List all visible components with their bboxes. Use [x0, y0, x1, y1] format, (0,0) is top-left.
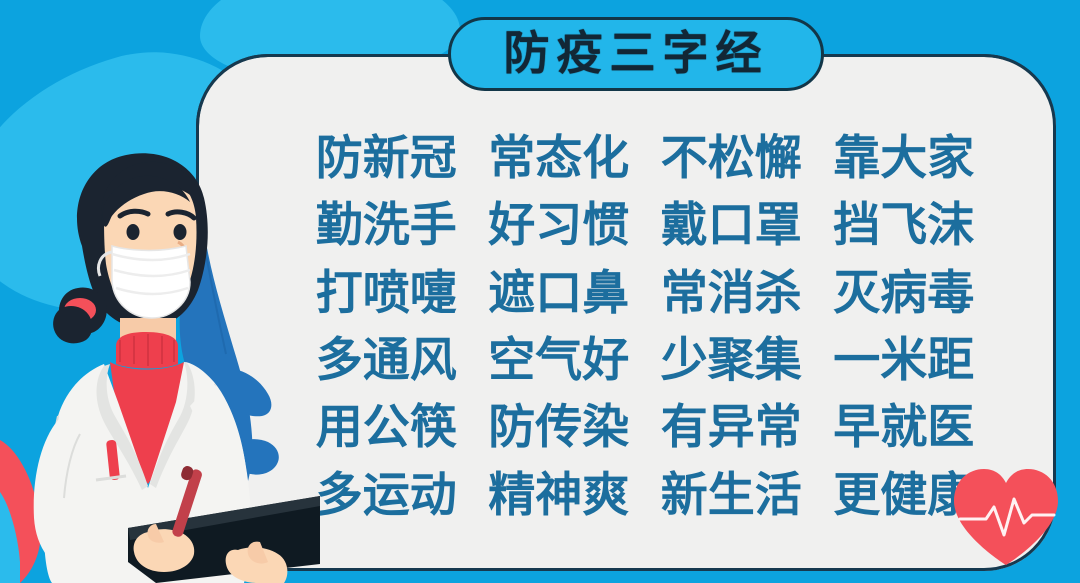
verse-phrase: 常消杀	[645, 269, 818, 316]
verse-phrase: 有异常	[645, 403, 818, 450]
verse-phrase: 用公筷	[300, 403, 473, 450]
verse-phrase: 遮口鼻	[473, 269, 646, 316]
verse-phrase: 精神爽	[473, 471, 646, 518]
verse-phrase: 挡飞沫	[818, 201, 991, 248]
poster-root: 防疫三字经 防新冠 常态化 不松懈 靠大家 勤洗手 好习惯 戴口罩 挡飞沫 打喷…	[0, 0, 1080, 583]
verse-phrase: 防传染	[473, 403, 646, 450]
verse-phrase: 早就医	[818, 403, 991, 450]
verse-phrase: 一米距	[818, 336, 991, 383]
verse-phrase: 空气好	[473, 336, 646, 383]
verse-phrase: 打喷嚏	[300, 269, 473, 316]
verse-phrase: 防新冠	[300, 134, 473, 181]
verse-phrase: 新生活	[645, 471, 818, 518]
verse-phrase: 好习惯	[473, 201, 646, 248]
verse-grid: 防新冠 常态化 不松懈 靠大家 勤洗手 好习惯 戴口罩 挡飞沫 打喷嚏 遮口鼻 …	[300, 124, 990, 528]
verse-phrase: 靠大家	[818, 134, 991, 181]
verse-phrase: 多运动	[300, 471, 473, 518]
verse-phrase: 戴口罩	[645, 201, 818, 248]
verse-phrase: 常态化	[473, 134, 646, 181]
verse-phrase: 更健康	[818, 471, 991, 518]
title-pill: 防疫三字经	[448, 17, 824, 91]
verse-phrase: 少聚集	[645, 336, 818, 383]
verse-phrase: 不松懈	[645, 134, 818, 181]
page-title: 防疫三字经	[504, 30, 769, 76]
verse-phrase: 多通风	[300, 336, 473, 383]
verse-phrase: 勤洗手	[300, 201, 473, 248]
verse-phrase: 灭病毒	[818, 269, 991, 316]
